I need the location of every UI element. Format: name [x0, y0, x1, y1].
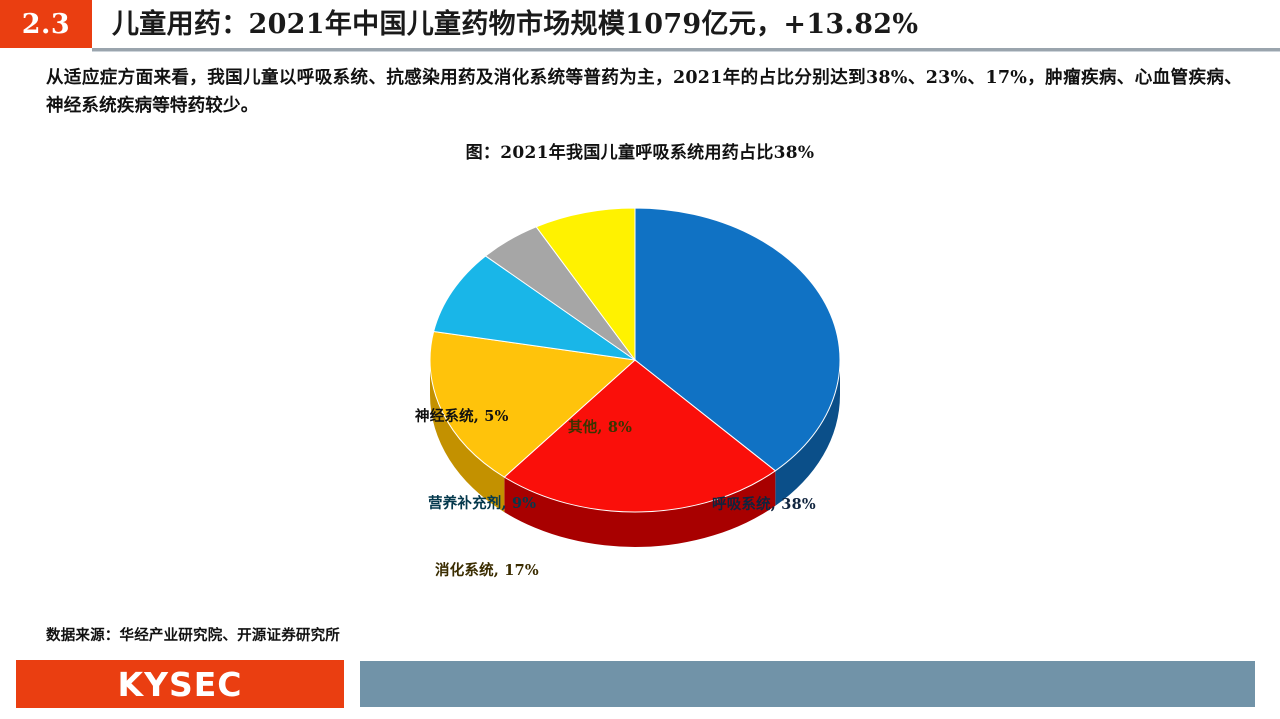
page-header: 2.3 儿童用药：2021年中国儿童药物市场规模1079亿元，+13.82% — [0, 0, 1280, 56]
kysec-logo-text: KYSEC — [118, 665, 243, 704]
pie-label-respiratory: 呼吸系统, 38% — [712, 493, 816, 514]
pie-label-digestive: 消化系统, 17% — [435, 559, 539, 580]
pie-label-neurological: 神经系统, 5% — [415, 405, 509, 426]
pie-top-faces — [430, 208, 840, 512]
pie-chart-svg — [330, 180, 950, 610]
chart-title: 图：2021年我国儿童呼吸系统用药占比38% — [0, 138, 1280, 163]
pie-label-nutrition: 营养补充剂, 9% — [428, 492, 536, 513]
page-title: 儿童用药：2021年中国儿童药物市场规模1079亿元，+13.82% — [112, 2, 918, 41]
header-divider-shadow — [92, 51, 1280, 52]
kysec-logo: KYSEC — [16, 660, 344, 708]
pie-label-other: 其他, 8% — [568, 416, 632, 437]
intro-paragraph: 从适应症方面来看，我国儿童以呼吸系统、抗感染用药及消化系统等普药为主，2021年… — [46, 64, 1242, 120]
page-footer: KYSEC — [0, 660, 1280, 719]
footer-accent-bar — [360, 661, 1255, 707]
section-number-badge: 2.3 — [0, 0, 92, 48]
data-source-note: 数据来源：华经产业研究院、开源证券研究所 — [46, 624, 340, 645]
pie-chart: 呼吸系统, 38% 全身抗感染, 23% 消化系统, 17% 营养补充剂, 9%… — [330, 180, 950, 610]
